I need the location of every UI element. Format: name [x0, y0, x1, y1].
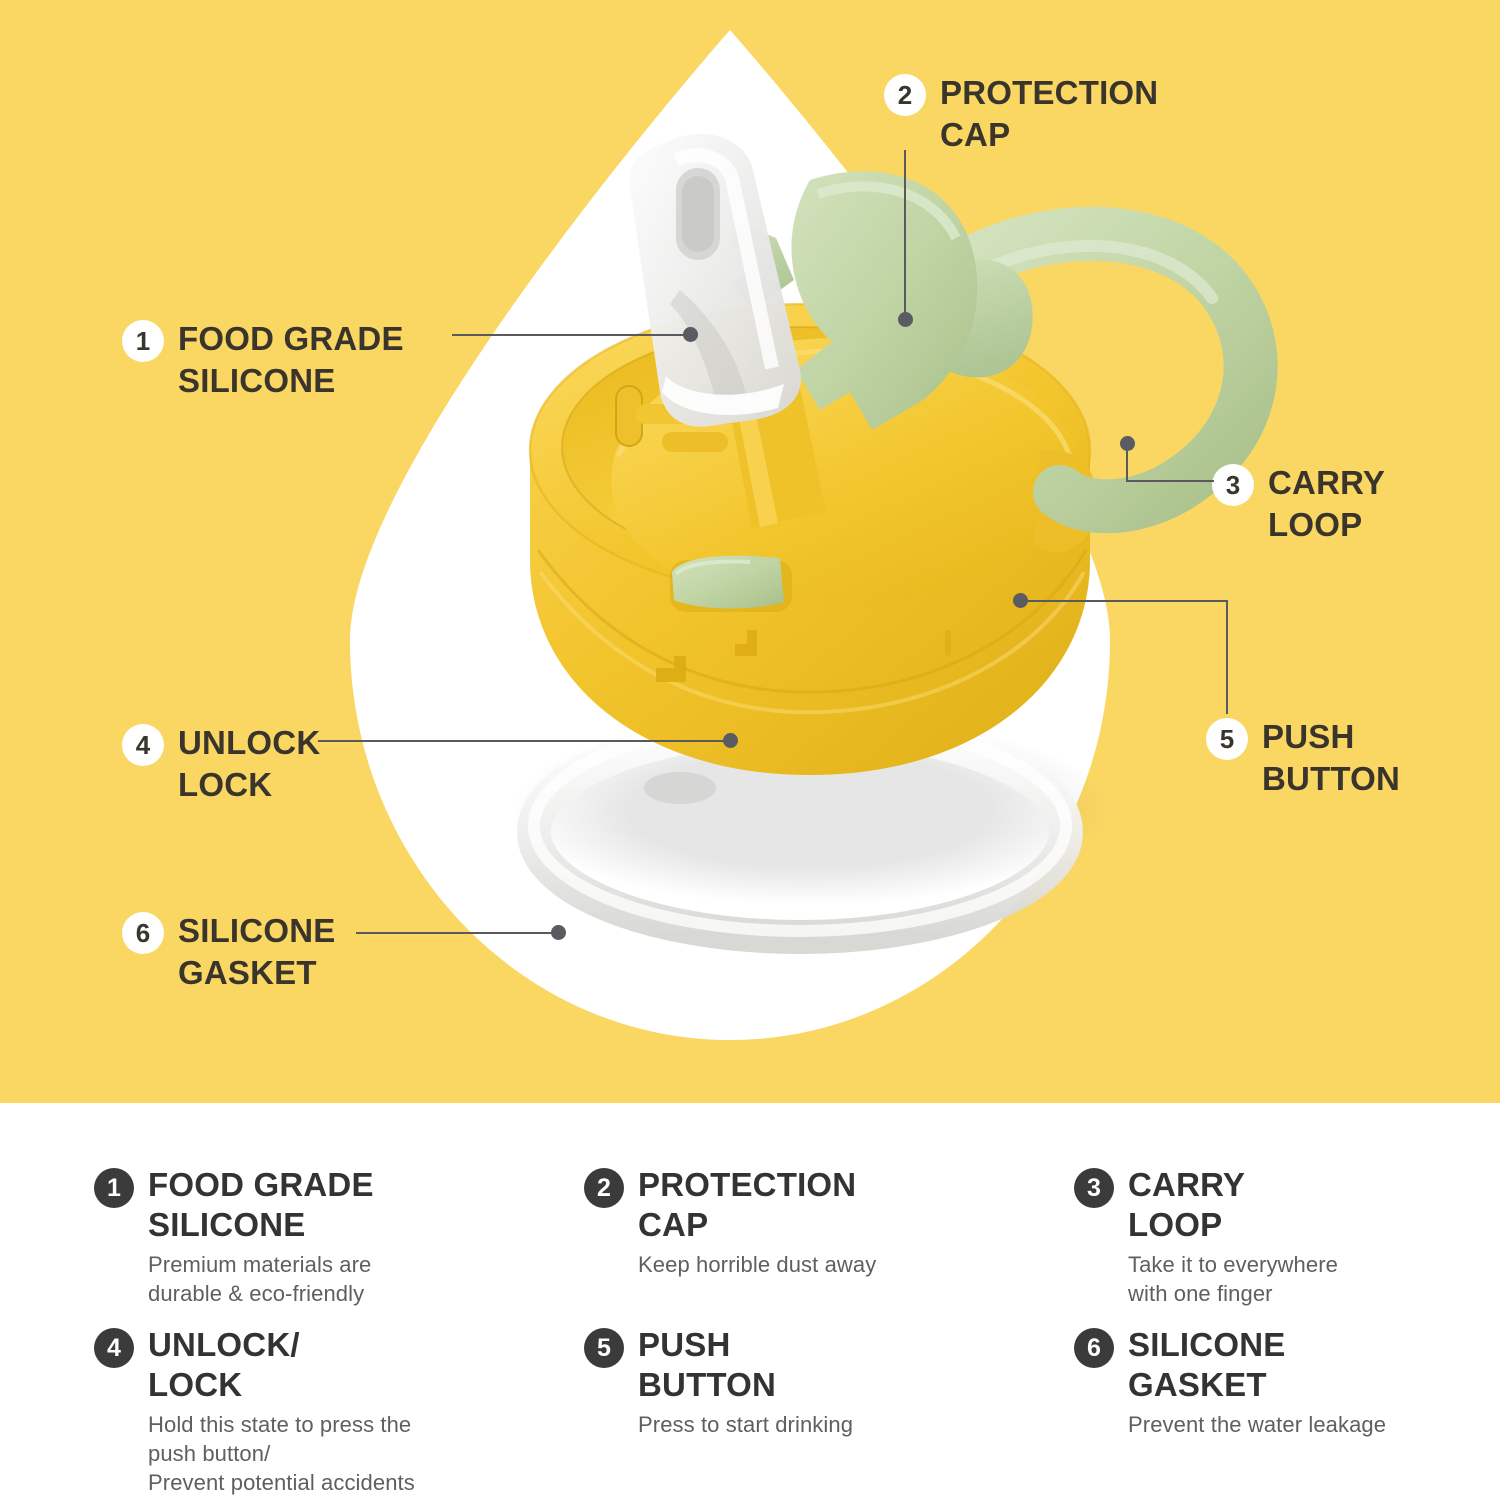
legend-desc-1: Premium materials are durable & eco-frie… — [148, 1250, 524, 1309]
hero-panel: 1 FOOD GRADE SILICONE 2 PROTECTION CAP 3… — [0, 0, 1500, 1103]
callout-label-4: UNLOCK LOCK — [178, 722, 320, 806]
legend-head-4: 4 UNLOCK/ LOCK — [94, 1325, 524, 1406]
leader-dot-6 — [551, 925, 566, 940]
callout-badge-3: 3 — [1212, 464, 1254, 506]
leader-line-2 — [904, 150, 906, 320]
callout-label-6: SILICONE GASKET — [178, 910, 335, 994]
leader-line-5-v — [1226, 600, 1228, 714]
legend-title-5: PUSH BUTTON — [638, 1325, 776, 1406]
legend-head-6: 6 SILICONE GASKET — [1074, 1325, 1500, 1406]
leader-line-1 — [452, 334, 690, 336]
legend-badge-1: 1 — [94, 1168, 134, 1208]
legend-item-2: 2 PROTECTION CAP Keep horrible dust away — [584, 1165, 1014, 1279]
legend-title-3: CARRY LOOP — [1128, 1165, 1245, 1246]
legend-badge-4: 4 — [94, 1328, 134, 1368]
legend-title-1: FOOD GRADE SILICONE — [148, 1165, 374, 1246]
push-button — [670, 556, 792, 612]
legend-badge-5: 5 — [584, 1328, 624, 1368]
legend-desc-3: Take it to everywhere with one finger — [1128, 1250, 1500, 1309]
legend-section: 1 FOOD GRADE SILICONE Premium materials … — [0, 1103, 1500, 1471]
legend-desc-6: Prevent the water leakage — [1128, 1410, 1500, 1439]
legend-title-6: SILICONE GASKET — [1128, 1325, 1285, 1406]
callout-4: 4 UNLOCK LOCK — [122, 722, 320, 806]
callout-label-5: PUSH BUTTON — [1262, 716, 1400, 800]
legend-item-3: 3 CARRY LOOP Take it to everywhere with … — [1074, 1165, 1500, 1308]
product-illustration — [380, 120, 1300, 1020]
leader-dot-4 — [723, 733, 738, 748]
callout-5: 5 PUSH BUTTON — [1206, 716, 1400, 800]
legend-title-2: PROTECTION CAP — [638, 1165, 856, 1246]
legend-badge-6: 6 — [1074, 1328, 1114, 1368]
legend-desc-5: Press to start drinking — [638, 1410, 1014, 1439]
callout-badge-4: 4 — [122, 724, 164, 766]
legend-head-1: 1 FOOD GRADE SILICONE — [94, 1165, 524, 1246]
callout-label-2: PROTECTION CAP — [940, 72, 1158, 156]
leader-dot-1 — [683, 327, 698, 342]
legend-item-4: 4 UNLOCK/ LOCK Hold this state to press … — [94, 1325, 524, 1497]
legend-head-3: 3 CARRY LOOP — [1074, 1165, 1500, 1246]
callout-badge-2: 2 — [884, 74, 926, 116]
leader-line-3-h — [1126, 480, 1214, 482]
leader-dot-2 — [898, 312, 913, 327]
callout-2: 2 PROTECTION CAP — [884, 72, 1158, 156]
callout-label-3: CARRY LOOP — [1268, 462, 1385, 546]
legend-item-5: 5 PUSH BUTTON Press to start drinking — [584, 1325, 1014, 1439]
leader-line-6 — [356, 932, 556, 934]
legend-item-6: 6 SILICONE GASKET Prevent the water leak… — [1074, 1325, 1500, 1439]
legend-head-2: 2 PROTECTION CAP — [584, 1165, 1014, 1246]
legend-badge-2: 2 — [584, 1168, 624, 1208]
leader-dot-3 — [1120, 436, 1135, 451]
legend-head-5: 5 PUSH BUTTON — [584, 1325, 1014, 1406]
callout-badge-5: 5 — [1206, 718, 1248, 760]
callout-1: 1 FOOD GRADE SILICONE — [122, 318, 404, 402]
legend-desc-4: Hold this state to press the push button… — [148, 1410, 524, 1497]
legend-title-4: UNLOCK/ LOCK — [148, 1325, 300, 1406]
legend-desc-2: Keep horrible dust away — [638, 1250, 1014, 1279]
leader-dot-5 — [1013, 593, 1028, 608]
callout-label-1: FOOD GRADE SILICONE — [178, 318, 404, 402]
leader-line-4 — [318, 740, 730, 742]
legend-badge-3: 3 — [1074, 1168, 1114, 1208]
legend-item-1: 1 FOOD GRADE SILICONE Premium materials … — [94, 1165, 524, 1308]
callout-badge-1: 1 — [122, 320, 164, 362]
callout-badge-6: 6 — [122, 912, 164, 954]
leader-line-5-h — [1026, 600, 1228, 602]
callout-3: 3 CARRY LOOP — [1212, 462, 1385, 546]
callout-6: 6 SILICONE GASKET — [122, 910, 335, 994]
